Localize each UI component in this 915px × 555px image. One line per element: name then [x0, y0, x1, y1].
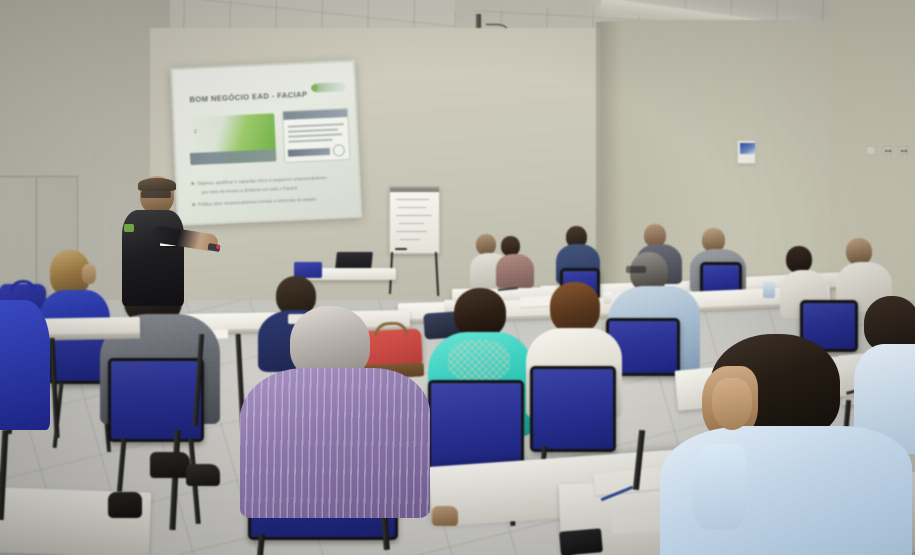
slide-side-panel — [282, 108, 350, 163]
head — [846, 238, 872, 265]
shoe — [150, 452, 190, 478]
projection-screen: BOM NEGÓCIO EAD - FACIAP 2 Objetivo: qua… — [170, 60, 362, 226]
slide-panel-badge-icon — [333, 144, 346, 157]
chair[interactable] — [530, 366, 616, 452]
slide-graphic-number: 2 — [194, 129, 197, 135]
hand-on-chin — [712, 378, 752, 430]
slide-logo-wordmark — [312, 82, 346, 93]
torso — [496, 254, 534, 288]
shirt-stripes — [240, 368, 430, 518]
bullet-dot-icon — [192, 203, 195, 206]
slide-panel-line — [288, 139, 332, 142]
slide-panel-line — [288, 128, 338, 132]
shoe — [108, 492, 142, 518]
wall-sign-graphic — [740, 143, 756, 154]
arm — [692, 444, 746, 530]
slide-panel-header — [283, 109, 347, 120]
flipchart-writing-line — [396, 231, 427, 232]
flipchart-easel — [389, 186, 440, 254]
slide-panel-line — [288, 133, 342, 137]
foot — [432, 506, 458, 526]
shirt-logo — [124, 224, 134, 232]
head — [501, 236, 520, 256]
glasses-icon — [141, 191, 171, 198]
wall-outlet[interactable] — [882, 146, 892, 155]
head — [476, 234, 496, 255]
phone[interactable] — [559, 528, 603, 555]
slide-panel-footer-band — [288, 148, 330, 157]
flipchart-marker — [395, 248, 407, 250]
classroom-photo: BOM NEGÓCIO EAD - FACIAP 2 Objetivo: qua… — [0, 0, 915, 555]
slide-chart-graphic: 2 — [188, 113, 276, 165]
wall-outlet[interactable] — [898, 146, 908, 155]
flipchart-writing-line — [399, 223, 424, 224]
slide-panel-line — [288, 123, 344, 127]
flipchart-clamp — [390, 187, 439, 192]
wall-switch-plate[interactable] — [866, 146, 876, 155]
chair[interactable] — [108, 358, 204, 442]
hair — [138, 178, 176, 191]
bullet-dot-icon — [191, 182, 194, 185]
flipchart-writing-line — [400, 239, 420, 240]
flipchart-writing-line — [398, 207, 426, 208]
glasses-icon — [626, 266, 646, 273]
hair — [550, 282, 600, 334]
flipchart-writing-line — [396, 215, 432, 216]
head — [786, 246, 812, 273]
torso — [0, 300, 50, 430]
hair — [454, 288, 506, 338]
water-cup[interactable] — [444, 300, 453, 312]
lace-pattern — [448, 340, 510, 382]
flipchart-writing-line — [396, 199, 429, 200]
face — [82, 264, 96, 284]
wall-notice-sign — [737, 140, 756, 164]
shoe — [186, 464, 220, 486]
outlet-holes — [885, 150, 891, 152]
clicker-indicator — [216, 245, 220, 249]
water-cup[interactable] — [603, 292, 612, 304]
water-bottle[interactable] — [763, 282, 775, 298]
outlet-holes — [901, 150, 907, 152]
